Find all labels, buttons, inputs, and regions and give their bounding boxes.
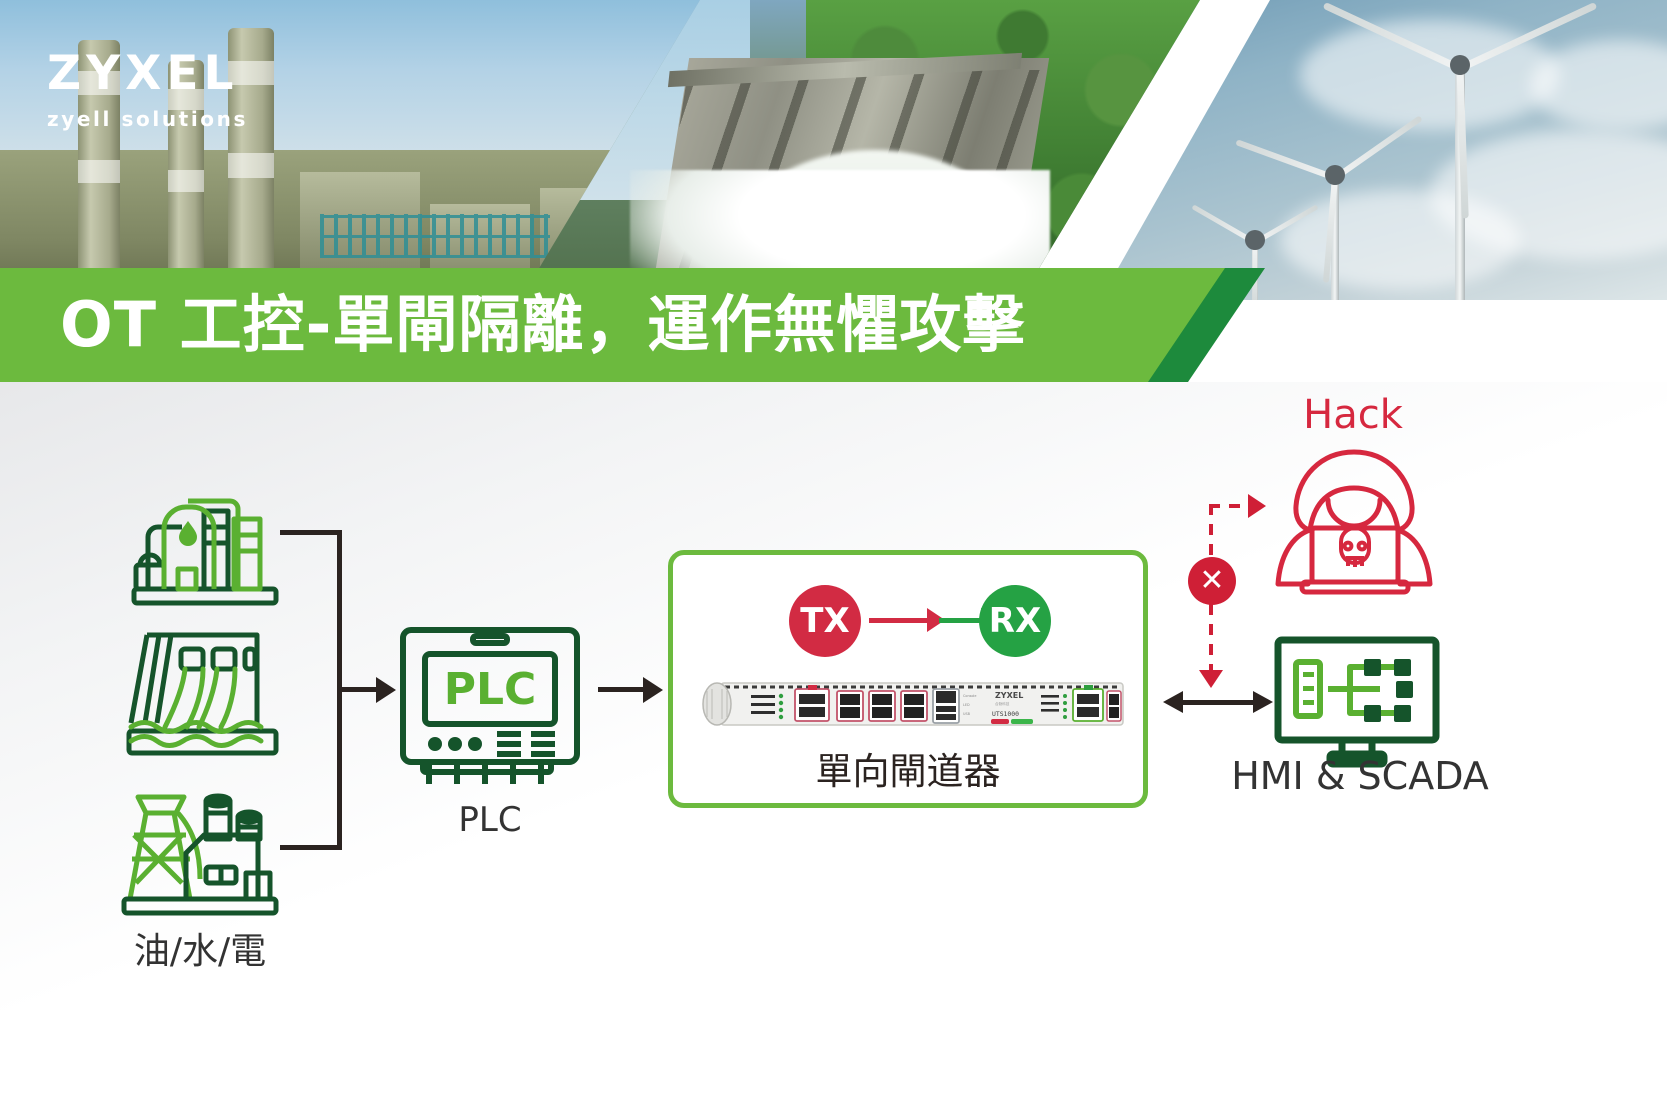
header-photo-band [0, 0, 1667, 300]
bracket-bottom-line [280, 845, 338, 850]
infographic-page: ZYXEL zyell solutions OT 工控-單閘隔離，運作無懼攻擊 [0, 0, 1667, 1104]
blocked-path-horizontal [1209, 504, 1251, 508]
logo-tagline: zyell solutions [47, 109, 248, 129]
svg-text:USB: USB [963, 712, 971, 716]
source-power-plant [120, 787, 280, 917]
turbine-hub [1450, 55, 1470, 75]
appliance-model: UTS1000 [992, 710, 1019, 718]
plant-pipework [320, 214, 550, 258]
zyxel-logo: ZYXEL zyell solutions [47, 50, 248, 129]
svg-text:合勤科技: 合勤科技 [995, 701, 1010, 706]
wind-turbine [1400, 55, 1520, 300]
unidirectional-gateway-card: TX RX [668, 550, 1148, 808]
plc-label: PLC [395, 800, 585, 840]
tx-badge: TX [789, 585, 861, 657]
arrow-plc-to-gateway [598, 687, 646, 692]
power-plant-icon [120, 787, 280, 917]
turbine-blade [1235, 139, 1336, 181]
plc-screen-text: PLC [444, 664, 537, 715]
svg-text:Console: Console [963, 694, 976, 698]
gateway-appliance-image: ConsoleLEDUSB ZYXEL 合勤科技 UTS1000 [695, 679, 1131, 729]
hack-label: Hack [1243, 392, 1463, 438]
plc-node: PLC PLC [395, 622, 585, 797]
diagram-canvas: 油/水/電 [0, 382, 1667, 1104]
arrow-head-to-hmi [1199, 670, 1223, 688]
arrow-head-sources-to-plc [376, 677, 396, 703]
oil-refinery-icon [130, 477, 280, 607]
tx-flow-line [869, 618, 931, 623]
bracket-top-line [280, 530, 338, 535]
block-x-icon: ✕ [1188, 557, 1236, 605]
gateway-caption: 單向閘道器 [673, 741, 1143, 795]
sources-label: 油/水/電 [90, 922, 310, 974]
bidirectional-arrow-gateway-hmi [1163, 689, 1273, 715]
rx-badge: RX [979, 585, 1051, 657]
source-hydro-dam [125, 627, 280, 757]
turbine-hub [1245, 230, 1265, 250]
wind-turbine [1290, 165, 1380, 300]
hydro-dam-icon [125, 627, 280, 757]
arrow-head-to-hacker [1248, 494, 1266, 518]
source-oil-refinery [130, 477, 280, 607]
arrow-head-plc-to-gateway [643, 677, 663, 703]
logo-wordmark: ZYXEL [47, 50, 248, 97]
photo-wind-turbines [1100, 0, 1667, 300]
hmi-scada-label: HMI & SCADA [1210, 754, 1510, 798]
hmi-scada-icon [1272, 634, 1442, 769]
source-bracket [280, 530, 342, 850]
plc-icon: PLC [395, 622, 585, 797]
page-title: OT 工控-單閘隔離，運作無懼攻擊 [60, 268, 1025, 382]
hacker-icon [1262, 444, 1447, 604]
turbine-hub [1325, 165, 1345, 185]
svg-text:LED: LED [963, 703, 970, 707]
arrow-sources-to-plc [337, 687, 379, 692]
appliance-brand: ZYXEL [995, 691, 1023, 700]
